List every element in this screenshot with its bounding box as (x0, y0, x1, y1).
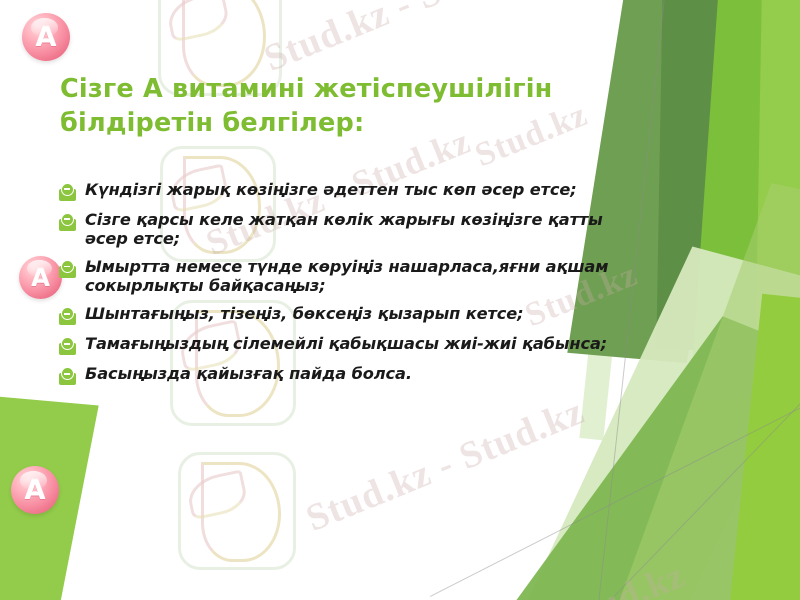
no-entry-icon (58, 337, 77, 355)
no-entry-icon (58, 213, 77, 231)
list-item: Ымыртта немесе түнде көруіңіз нашарласа,… (58, 257, 618, 295)
no-entry-icon (58, 307, 77, 325)
no-entry-icon (58, 183, 77, 201)
no-entry-icon (58, 367, 77, 385)
list-item: Күндізгі жарық көзіңізге әдеттен тыс көп… (58, 180, 618, 201)
list-item: Тамағыңыздың сілемейлі қабықшасы жиі-жиі… (58, 334, 618, 355)
list-item: Басыңызда қайызғақ пайда болса. (58, 364, 618, 385)
list-item-label: Шынтағыңыз, тізеңіз, бөксеңіз қызарып ке… (85, 304, 524, 323)
no-entry-icon (58, 260, 77, 278)
list-item: Сізге қарсы келе жатқан көлік жарығы көз… (58, 210, 618, 248)
badge-letter: А (25, 475, 46, 506)
list-item-label: Басыңызда қайызғақ пайда болса. (85, 364, 412, 383)
list-item-label: Күндізгі жарық көзіңізге әдеттен тыс көп… (85, 180, 577, 199)
list-item-label: Тамағыңыздың сілемейлі қабықшасы жиі-жиі… (85, 334, 607, 353)
list-item: Шынтағыңыз, тізеңіз, бөксеңіз қызарып ке… (58, 304, 618, 325)
badge-letter: А (31, 264, 50, 292)
presentation-slide: Stud.kz - Stud.kz Stud.kz Stud.kz - Stud… (0, 0, 800, 600)
slide-title: Сізге А витамині жетіспеушілігін білдіре… (60, 73, 620, 140)
list-item-label: Сізге қарсы келе жатқан көлік жарығы көз… (85, 210, 618, 248)
badge-letter: А (36, 22, 57, 53)
list-item-label: Ымыртта немесе түнде көруіңіз нашарласа,… (85, 257, 618, 295)
symptom-bullet-list: Күндізгі жарық көзіңізге әдеттен тыс көп… (58, 180, 618, 394)
slide-content: Сізге А витамині жетіспеушілігін білдіре… (0, 0, 800, 600)
